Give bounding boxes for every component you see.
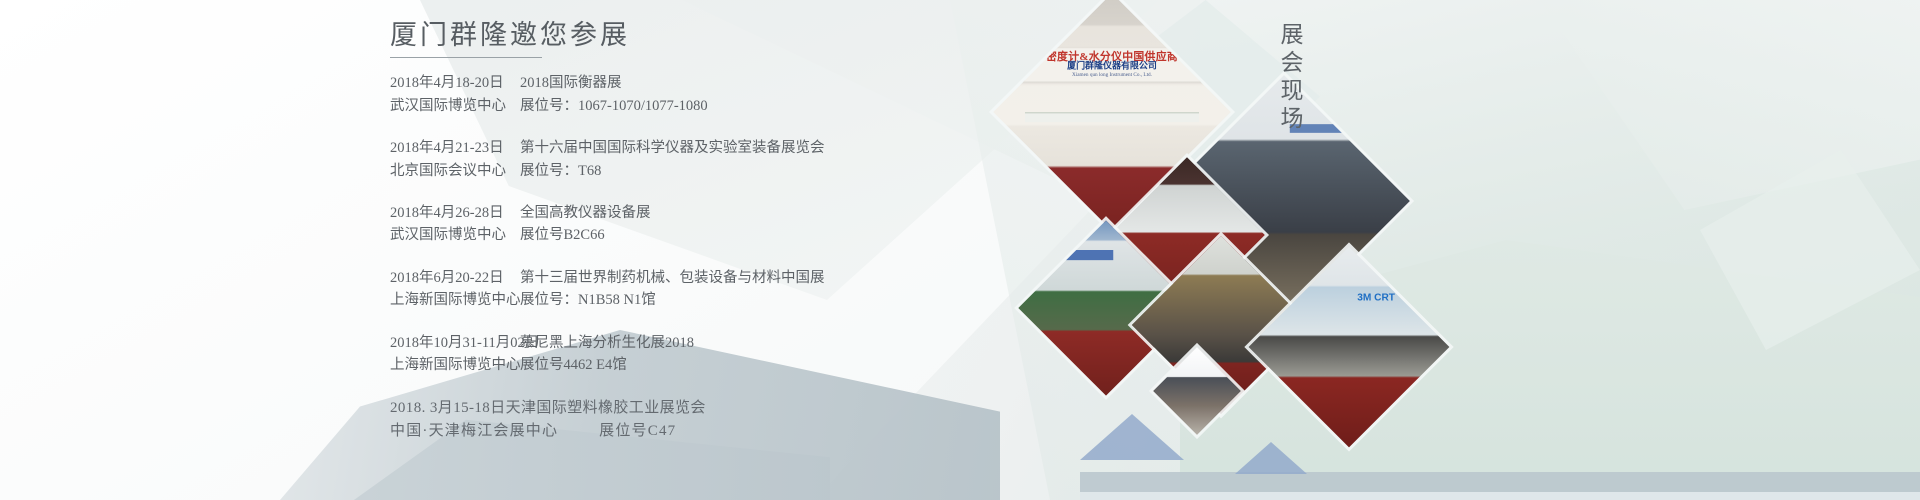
event-row-bottom: 上海新国际博览中心 展位号4462 E4馆 — [390, 354, 950, 376]
exhibition-invitation-banner: 厦门群隆邀您参展 2018年4月18-20日 2018国际衡器展 武汉国际博览中… — [0, 0, 1920, 500]
event-venue-line: 中国·天津梅江会展中心 展位号C47 — [390, 420, 950, 443]
event-venue: 中国·天津梅江会展中心 — [390, 420, 558, 443]
event-list-panel: 厦门群隆邀您参展 2018年4月18-20日 2018国际衡器展 武汉国际博览中… — [390, 18, 950, 463]
event-item-2: 2018年4月21-23日 第十六届中国国际科学仪器及实验室装备展览会 北京国际… — [390, 137, 950, 182]
event-venue: 上海新国际博览中心 — [390, 289, 520, 311]
event-item-6: 2018. 3月15-18日天津国际塑料橡胶工业展览会 中国·天津梅江会展中心 … — [390, 397, 950, 444]
event-row-bottom: 武汉国际博览中心 展位号：1067-1070/1077-1080 — [390, 95, 950, 117]
event-date: 2018年4月18-20日 — [390, 72, 520, 94]
event-date: 2018年4月26-28日 — [390, 202, 520, 224]
triangle-decoration-large — [1080, 414, 1184, 460]
booth-banner-company-en: Xiamen qun long Instrument Co., Ltd. — [1005, 72, 1219, 77]
booth-banner: 密度计&水分仪中国供应商 厦门群隆仪器有限公司 Xiamen qun long … — [1005, 49, 1219, 83]
event-date: 2018年10月31-11月02日 — [390, 332, 520, 354]
event-row-top: 2018年4月21-23日 第十六届中国国际科学仪器及实验室装备展览会 — [390, 137, 950, 159]
booth-signage — [1030, 250, 1113, 260]
event-booth: 展位号4462 E4馆 — [520, 354, 627, 376]
event-date: 2018年6月20-22日 — [390, 267, 520, 289]
event-item-1: 2018年4月18-20日 2018国际衡器展 武汉国际博览中心 展位号：106… — [390, 72, 950, 117]
booth-sign-label: 3M CRT — [1357, 293, 1395, 303]
booth-wall-panel — [1024, 112, 1199, 122]
event-item-3: 2018年4月26-28日 全国高教仪器设备展 武汉国际博览中心 展位号B2C6… — [390, 202, 950, 247]
event-venue: 北京国际会议中心 — [390, 160, 520, 182]
event-venue: 武汉国际博览中心 — [390, 95, 520, 117]
event-row-bottom: 武汉国际博览中心 展位号B2C66 — [390, 224, 950, 246]
event-booth: 展位号：N1B58 N1馆 — [520, 289, 656, 311]
event-name: 慕尼黑上海分析生化展2018 — [520, 332, 694, 354]
event-booth: 展位号C47 — [599, 420, 676, 443]
event-row-bottom: 上海新国际博览中心 展位号：N1B58 N1馆 — [390, 289, 950, 311]
page-title: 厦门群隆邀您参展 — [390, 18, 950, 53]
triangle-decoration-small — [1235, 442, 1307, 474]
event-title-line: 2018. 3月15-18日天津国际塑料橡胶工业展览会 — [390, 397, 950, 420]
event-date: 2018年4月21-23日 — [390, 137, 520, 159]
event-name: 2018国际衡器展 — [520, 72, 622, 94]
event-name: 第十六届中国国际科学仪器及实验室装备展览会 — [520, 137, 825, 159]
event-venue: 武汉国际博览中心 — [390, 224, 520, 246]
event-venue: 上海新国际博览中心 — [390, 354, 520, 376]
event-booth: 展位号B2C66 — [520, 224, 605, 246]
event-row-top: 2018年10月31-11月02日 慕尼黑上海分析生化展2018 — [390, 332, 950, 354]
event-booth: 展位号：1067-1070/1077-1080 — [520, 95, 708, 117]
event-row-top: 2018年6月20-22日 第十三届世界制药机械、包装设备与材料中国展 — [390, 267, 950, 289]
event-name: 全国高教仪器设备展 — [520, 202, 651, 224]
event-name: 第十三届世界制药机械、包装设备与材料中国展 — [520, 267, 825, 289]
event-row-top: 2018年4月18-20日 2018国际衡器展 — [390, 72, 950, 94]
event-item-4: 2018年6月20-22日 第十三届世界制药机械、包装设备与材料中国展 上海新国… — [390, 267, 950, 312]
vertical-section-title: 展会现场 — [1272, 22, 1306, 134]
title-underline — [390, 57, 542, 58]
event-row-bottom: 北京国际会议中心 展位号：T68 — [390, 160, 950, 182]
event-row-top: 2018年4月26-28日 全国高教仪器设备展 — [390, 202, 950, 224]
event-booth: 展位号：T68 — [520, 160, 601, 182]
event-item-5: 2018年10月31-11月02日 慕尼黑上海分析生化展2018 上海新国际博览… — [390, 332, 950, 377]
